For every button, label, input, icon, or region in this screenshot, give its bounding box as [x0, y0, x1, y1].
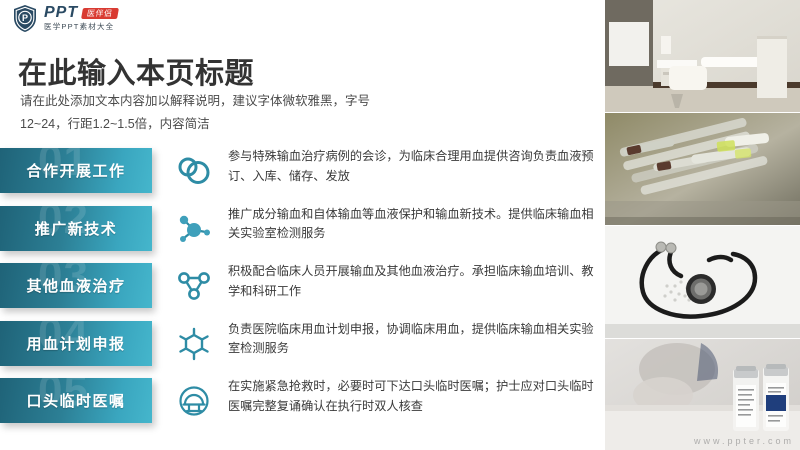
list-item[interactable]: 03 其他血液治疗 积极配合临床人员开展输血及其他血液治疗。承担临床输血培训、教… — [0, 261, 605, 319]
row-label-text: 其他血液治疗 — [26, 275, 125, 296]
list-item[interactable]: 04 用血计划申报 负责医院临床用血计划申报，协调临床用血，提供临床 — [0, 319, 605, 377]
row-label-text: 用血计划申报 — [26, 333, 125, 354]
row-label-badge[interactable]: 01 合作开展工作 — [0, 148, 152, 193]
row-label-text: 合作开展工作 — [26, 160, 125, 181]
row-label-badge[interactable]: 04 用血计划申报 — [0, 321, 152, 366]
list-item[interactable]: 01 合作开展工作 参与特殊输血治疗病例的会诊，为临床合理用血提供咨询负责血液预… — [0, 146, 605, 204]
row-label-badge[interactable]: 02 推广新技术 — [0, 206, 152, 251]
row-label-text: 口头临时医嘱 — [26, 390, 125, 411]
vaccine-vials-photo: www.ppter.com — [605, 339, 800, 450]
site-watermark: www.ppter.com — [694, 436, 794, 446]
brand-logo: P PPT 医伴侣 医学PPT素材大全 — [12, 3, 118, 33]
row-label-badge[interactable]: 05 口头临时医嘱 — [0, 378, 152, 423]
subtitle-line-2: 12~24，行距1.2~1.5倍，内容简洁 — [20, 113, 440, 136]
logo-tagline: 医学PPT素材大全 — [44, 23, 118, 31]
content-list: 01 合作开展工作 参与特殊输血治疗病例的会诊，为临床合理用血提供咨询负责血液预… — [0, 146, 605, 434]
logo-brand-text: PPT — [44, 5, 78, 21]
ct-scanner-icon — [168, 382, 220, 420]
photo-column: www.ppter.com — [605, 0, 800, 450]
shield-icon: P — [12, 4, 38, 33]
logo-badge: 医伴侣 — [81, 8, 118, 19]
slide-root: P PPT 医伴侣 医学PPT素材大全 在此输入本页标题 请在此处添加文本内容加… — [0, 0, 800, 450]
row-label-badge[interactable]: 03 其他血液治疗 — [0, 263, 152, 308]
list-item[interactable]: 05 口头临时医嘱 在实施紧急抢救时，必要时可下达口头临时医嘱；护士应对口头临时… — [0, 376, 605, 434]
two-circles-icon — [168, 152, 220, 190]
row-body-text: 参与特殊输血治疗病例的会诊，为临床合理用血提供咨询负责血液预订、入库、储存、发放 — [228, 147, 596, 187]
row-body-text: 推广成分输血和自体输血等血液保护和输血新技术。提供临床输血相关实验室检测服务 — [228, 205, 596, 245]
subtitle-line-1: 请在此处添加文本内容加以解释说明，建议字体微软雅黑，字号 — [20, 90, 440, 113]
row-body-text: 负责医院临床用血计划申报，协调临床用血，提供临床输血相关实验室检测服务 — [228, 320, 596, 360]
stethoscope-photo — [605, 226, 800, 338]
row-body-text: 积极配合临床人员开展输血及其他血液治疗。承担临床输血培训、教学和科研工作 — [228, 262, 596, 302]
row-label-text: 推广新技术 — [35, 218, 118, 239]
triangle-network-icon — [168, 267, 220, 305]
molecule-icon — [168, 210, 220, 248]
page-subtitle: 请在此处添加文本内容加以解释说明，建议字体微软雅黑，字号 12~24，行距1.2… — [20, 90, 440, 136]
page-title: 在此输入本页标题 — [18, 50, 254, 92]
svg-text:P: P — [22, 13, 28, 23]
row-body-text: 在实施紧急抢救时，必要时可下达口头临时医嘱；护士应对口头临时医嘱完整复诵确认在执… — [228, 377, 596, 417]
exam-room-photo — [605, 0, 800, 112]
syringes-photo — [605, 113, 800, 225]
benzene-ring-icon — [168, 325, 220, 363]
list-item[interactable]: 02 推广新技术 推广成分输血和自体输血等血液保护和输血新技术。提供临床输血相关… — [0, 204, 605, 262]
